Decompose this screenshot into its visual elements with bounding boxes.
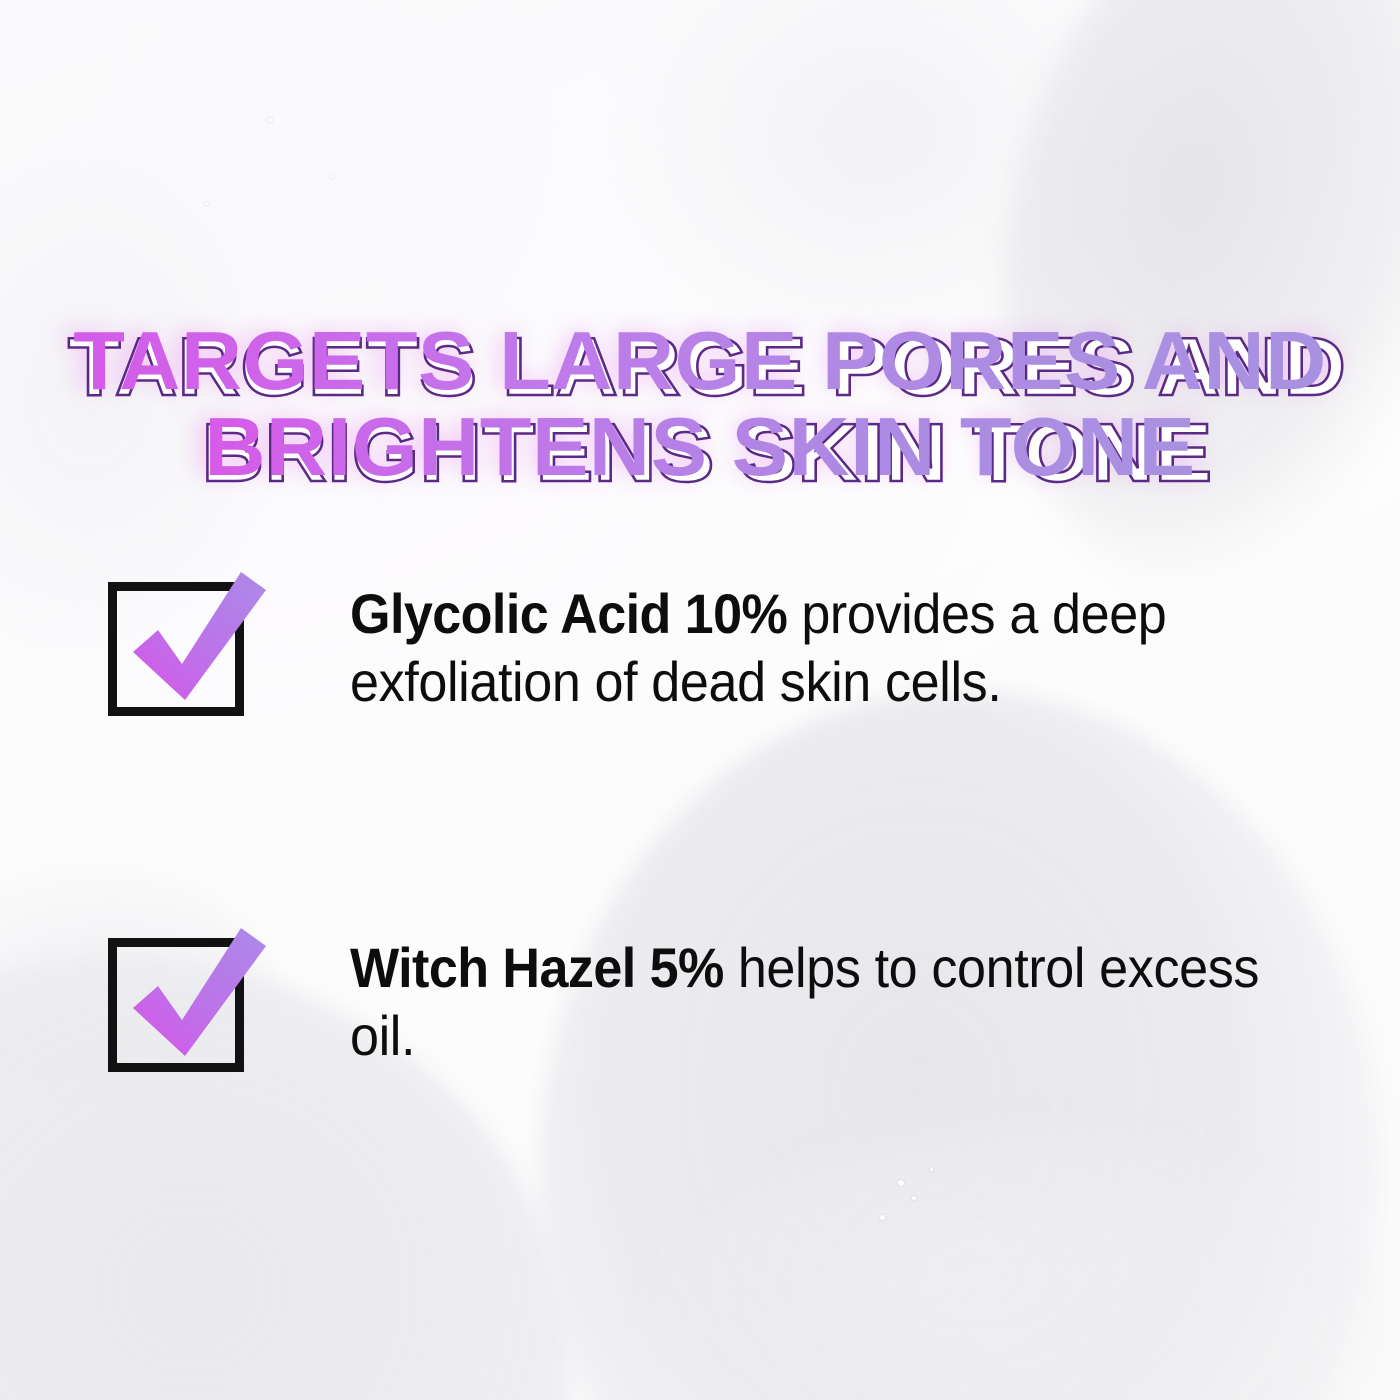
feature-bullet-1-bold: Glycolic Acid 10% (350, 582, 787, 645)
headline-line-1: TARGETS LARGE PORES AND TARGETS LARGE PO… (0, 318, 1400, 404)
bubble-speck (930, 1168, 933, 1171)
feature-bullet-2-bold: Witch Hazel 5% (350, 936, 724, 999)
headline-line-2-text: BRIGHTENS SKIN TONE (204, 400, 1195, 493)
bubble-speck (880, 1215, 885, 1220)
feature-bullet-1-text: Glycolic Acid 10% provides a deep exfoli… (350, 580, 1289, 716)
checkbox-checked-icon (100, 916, 275, 1081)
headline-line-2: BRIGHTENS SKIN TONE BRIGHTENS SKIN TONE … (0, 404, 1400, 490)
headline: TARGETS LARGE PORES AND TARGETS LARGE PO… (0, 318, 1400, 490)
bubble-speck (898, 1180, 904, 1186)
feature-bullet-2-text: Witch Hazel 5% helps to control excess o… (350, 934, 1336, 1070)
bubble-speck (205, 202, 208, 205)
checkbox-checked-icon (100, 560, 275, 725)
product-feature-graphic: TARGETS LARGE PORES AND TARGETS LARGE PO… (0, 0, 1400, 1400)
check-mark-icon (100, 916, 275, 1081)
bubble-speck (268, 118, 272, 122)
headline-line-1-text: TARGETS LARGE PORES AND (73, 314, 1326, 407)
bubble-speck (330, 175, 333, 178)
bubble-speck (912, 1196, 916, 1200)
check-mark-icon (100, 560, 275, 725)
